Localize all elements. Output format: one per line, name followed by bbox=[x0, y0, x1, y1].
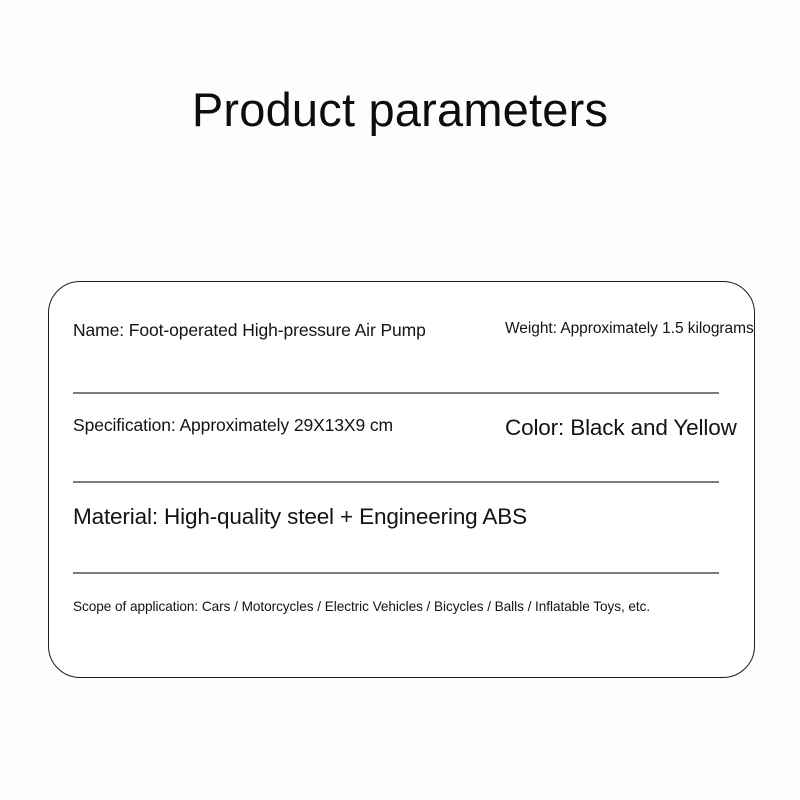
spec-row-name-weight: Name: Foot-operated High-pressure Air Pu… bbox=[73, 320, 719, 350]
spec-value-weight: Weight: Approximately 1.5 kilograms bbox=[505, 320, 754, 338]
spec-value-specification: Specification: Approximately 29X13X9 cm bbox=[73, 415, 393, 436]
spec-value-scope-of-application: Scope of application: Cars / Motorcycles… bbox=[73, 599, 650, 614]
row-divider-1 bbox=[73, 392, 719, 394]
spec-value-name: Name: Foot-operated High-pressure Air Pu… bbox=[73, 320, 426, 341]
spec-row-material: Material: High-quality steel + Engineeri… bbox=[73, 504, 719, 540]
row-divider-3 bbox=[73, 572, 719, 574]
spec-rows: Name: Foot-operated High-pressure Air Pu… bbox=[73, 282, 719, 677]
spec-value-material: Material: High-quality steel + Engineeri… bbox=[73, 504, 527, 530]
product-parameters-page: Product parameters Name: Foot-operated H… bbox=[0, 0, 800, 800]
specification-card: Name: Foot-operated High-pressure Air Pu… bbox=[48, 281, 755, 678]
row-divider-2 bbox=[73, 481, 719, 483]
spec-row-scope: Scope of application: Cars / Motorcycles… bbox=[73, 599, 719, 627]
page-title: Product parameters bbox=[0, 83, 800, 137]
spec-row-specification-color: Specification: Approximately 29X13X9 cm … bbox=[73, 415, 719, 451]
spec-value-color: Color: Black and Yellow bbox=[505, 415, 737, 441]
